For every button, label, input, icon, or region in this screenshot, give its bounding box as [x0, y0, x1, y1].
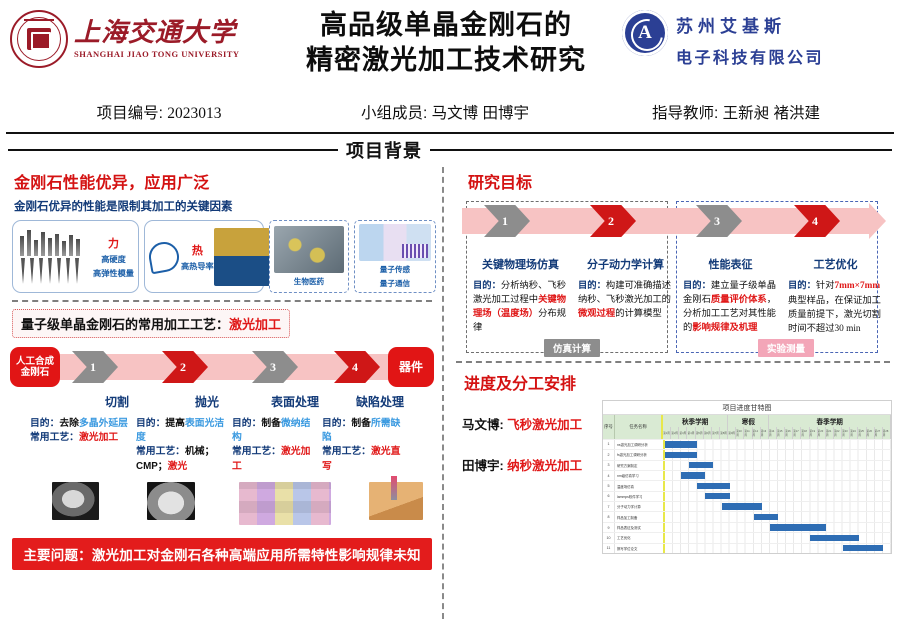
gantt-task-name: 样品加工制备	[615, 512, 665, 521]
step-detail-1: 目的：去除多晶外延层 常用工艺：激光加工	[30, 417, 136, 474]
gantt-task-name: 温度场仿真	[615, 481, 665, 490]
gantt-title: 项目进度甘特图	[603, 401, 891, 415]
application-card-thermal: 热 高热导率	[144, 220, 264, 293]
member-1-task: 飞秒激光加工	[507, 418, 582, 432]
gantt-task-id: 10	[603, 533, 615, 542]
property-key-thermal: 热	[192, 242, 203, 258]
flow-start-line-1: 人工合成	[16, 356, 54, 367]
photo-microstructure-array	[239, 482, 331, 525]
main-problem-label: 主要问题：	[23, 548, 92, 563]
step-3-process-label: 常用工艺：	[232, 446, 281, 457]
process-photo-strip	[10, 482, 434, 530]
gantt-task-row: 2fs激光加工调研分析	[603, 449, 891, 459]
caption-quantum-communication: 量子通信	[380, 278, 410, 289]
step-1-aim-object: 多晶外延层	[79, 418, 128, 429]
project-number: 项目编号: 2023013	[14, 101, 304, 123]
step-2-process: 常用工艺：机械；CMP；激光	[136, 445, 226, 473]
member-assignments: 马文博: 飞秒激光加工 田博宇: 纳秒激光加工	[454, 400, 602, 554]
step-2-aim: 目的：提高表面光洁度	[136, 417, 226, 445]
step-2-aim-verb: 提高	[165, 418, 185, 429]
company-name-line-1: 苏州艾基斯	[676, 12, 824, 37]
gantt-track	[665, 450, 891, 459]
application-card-biomedicine: 生物医药	[269, 220, 349, 293]
objective-3-highlight-2: 影响规律及机理	[692, 322, 757, 332]
step-label-4: 缺陷处理	[338, 393, 422, 410]
schedule-block: 马文博: 飞秒激光加工 田博宇: 纳秒激光加工 项目进度甘特图 序号 任务名称	[454, 400, 892, 554]
objective-2-part-b: 的计算模型	[615, 308, 662, 318]
advisors-value: 王新昶 褚洪建	[723, 105, 820, 122]
member-assignment-1: 马文博: 飞秒激光加工	[462, 414, 602, 433]
gantt-week-cell: 第4周	[687, 427, 695, 439]
gantt-task-name: ns激光加工调研分析	[615, 440, 665, 449]
objective-2-highlight: 微观过程	[578, 308, 615, 318]
biomedicine-image	[274, 226, 344, 273]
gantt-task-name: 撰写学位论文	[615, 544, 665, 553]
tag-simulation: 仿真计算	[544, 339, 600, 357]
gantt-bar	[722, 503, 762, 509]
objective-3-number: 3	[714, 214, 720, 229]
objective-column-1: 关键物理场仿真 目的：分析纳秒、飞秒激光加工过程中关键物理场（温度场）分布规律	[468, 251, 573, 337]
caption-quantum-sensing: 量子传感	[380, 264, 410, 275]
objectives-block: 1 2 3 4 关键物理场仿真 目	[454, 199, 892, 355]
gantt-week-cell: 第21周	[826, 427, 834, 439]
gantt-task-row: 11撰写学位论文	[603, 543, 891, 553]
gantt-week-cell: 第3周	[679, 427, 687, 439]
quantum-image	[359, 224, 431, 261]
step-4-aim: 目的：制备所需缺陷	[322, 417, 408, 445]
step-1-aim-label: 目的：	[30, 418, 59, 429]
objective-4-number: 4	[812, 214, 818, 229]
gantt-col-id-header: 序号	[603, 415, 615, 439]
process-step-details: 目的：去除多晶外延层 常用工艺：激光加工 目的：提高表面光洁度 常用工艺：机械；…	[10, 417, 434, 474]
gantt-task-name: lammps软件学习	[615, 492, 665, 501]
gantt-term: 春季学期	[769, 415, 891, 427]
gantt-track	[665, 471, 891, 480]
step-detail-2: 目的：提高表面光洁度 常用工艺：机械；CMP；激光	[136, 417, 232, 474]
step-3-aim: 目的：制备微纳结构	[232, 417, 316, 445]
project-number-value: 2023013	[167, 105, 221, 122]
banner-rule-right	[430, 149, 892, 151]
step-detail-4: 目的：制备所需缺陷 常用工艺：激光直写	[322, 417, 414, 474]
gantt-track	[665, 461, 891, 470]
gantt-track	[665, 544, 891, 553]
poster-meta-row: 项目编号: 2023013 小组成员: 马文博 田博宇 指导教师: 王新昶 褚洪…	[0, 92, 900, 132]
gantt-task-id: 9	[603, 523, 615, 532]
title-line-2: 精密激光加工技术研究	[270, 43, 622, 78]
step-3-process: 常用工艺：激光加工	[232, 445, 316, 473]
gantt-week-cell: 第17周	[793, 427, 801, 439]
gantt-task-row: 10工艺优化	[603, 532, 891, 542]
advisors-label: 指导教师:	[652, 105, 718, 122]
project-number-label: 项目编号:	[97, 105, 163, 122]
heat-icon	[147, 239, 182, 274]
objectives-heading: 研究目标	[468, 169, 892, 193]
objectives-columns: 关键物理场仿真 目的：分析纳秒、飞秒激光加工过程中关键物理场（温度场）分布规律 …	[458, 243, 888, 337]
gantt-week-cell: 第28周	[883, 427, 891, 439]
gantt-bar	[665, 452, 697, 458]
caption-biomedicine: 生物医药	[294, 276, 324, 287]
university-name-en: SHANGHAI JIAO TONG UNIVERSITY	[74, 50, 240, 59]
gantt-task-name: 分子动力学计算	[615, 502, 665, 511]
objective-1-label: 关键物理场仿真	[473, 256, 568, 272]
step-1-aim-verb: 去除	[59, 418, 79, 429]
process-title-highlight: 激光加工	[229, 317, 281, 332]
gantt-week-cell: 第24周	[850, 427, 858, 439]
tag-experiment: 实验测量	[758, 339, 814, 357]
process-flow: 人工合成 金刚石 1 2 3 4 器件	[10, 345, 434, 389]
gantt-week-cell: 第20周	[818, 427, 826, 439]
step-4-process-label: 常用工艺：	[322, 446, 371, 457]
gantt-task-name: 样品表征及测试	[615, 523, 665, 532]
objective-3-label: 性能表征	[683, 256, 778, 272]
gantt-week-cell: 第1周	[663, 427, 671, 439]
step-label-3: 表面处理	[252, 393, 338, 410]
gantt-week-cell: 第15周	[777, 427, 785, 439]
objective-3-text: 目的：建立量子级单晶金刚石质量评价体系，分析加工工艺对其性能的影响规律及机理	[683, 279, 778, 335]
step-label-2: 抛光	[162, 393, 252, 410]
poster-header: 上海交通大学 SHANGHAI JIAO TONG UNIVERSITY 高品级…	[0, 0, 900, 92]
objective-3-highlight-1: 质量评价体系	[711, 294, 767, 304]
gantt-bar	[843, 545, 883, 551]
objective-group-tags: 仿真计算 实验测量	[458, 339, 888, 355]
gantt-task-row: 6lammps软件学习	[603, 491, 891, 501]
gantt-week-cell: 第23周	[842, 427, 850, 439]
university-name-cn: 上海交通大学	[74, 20, 240, 46]
gantt-week-cell: 第18周	[801, 427, 809, 439]
gantt-week-cell: 第22周	[834, 427, 842, 439]
team-members-label: 小组成员:	[361, 105, 427, 122]
gantt-task-name: fs激光加工调研分析	[615, 450, 665, 459]
gantt-task-row: 8样品加工制备	[603, 511, 891, 521]
step-4-aim-verb: 制备	[351, 418, 371, 429]
step-1-process: 常用工艺：激光加工	[30, 431, 130, 445]
member-2-task: 纳秒激光加工	[507, 459, 582, 473]
photo-polished-sample	[147, 482, 195, 520]
property-sub-hardness: 高硬度	[101, 253, 126, 265]
gantt-bar	[770, 524, 827, 530]
objective-2-label: 分子动力学计算	[578, 256, 673, 272]
gantt-week-cell: 第8周	[720, 427, 728, 439]
gantt-week-cell: 第5周	[696, 427, 704, 439]
step-1-aim: 目的：去除多晶外延层	[30, 417, 130, 431]
step-2-aim-label: 目的：	[136, 418, 165, 429]
gantt-week-cell: 第11周	[744, 427, 752, 439]
objective-column-3: 性能表征 目的：建立量子级单晶金刚石质量评价体系，分析加工工艺对其性能的影响规律…	[678, 251, 783, 337]
gantt-task-id: 6	[603, 492, 615, 501]
thermal-props-text: 热 高热导率	[181, 242, 214, 272]
gantt-term-row: 秋季学期寒假春季学期	[663, 415, 891, 427]
flow-end-cap: 器件	[388, 347, 434, 387]
process-title-chip: 量子级单晶金刚石的常用加工工艺：激光加工	[12, 309, 290, 338]
gantt-bar	[810, 535, 858, 541]
step-2-process-value: 激光	[168, 461, 188, 472]
gantt-task-row: 3研究方案制定	[603, 460, 891, 470]
team-members-value: 马文博 田博宇	[432, 105, 529, 122]
gantt-task-id: 3	[603, 461, 615, 470]
process-step-labels: 切割 抛光 表面处理 缺陷处理	[10, 393, 434, 410]
gantt-track	[665, 481, 891, 490]
gantt-track	[665, 523, 891, 532]
gantt-chart: 项目进度甘特图 序号 任务名称 秋季学期寒假春季学期 第1周第2周第3周第4周第…	[602, 400, 892, 554]
objective-4-time-limit: 30 min	[835, 324, 861, 334]
gantt-task-row: 4nm级仿真学习	[603, 470, 891, 480]
property-key-mechanical: 力	[108, 235, 119, 251]
gantt-task-id: 4	[603, 471, 615, 480]
gantt-task-id: 7	[603, 502, 615, 511]
team-members: 小组成员: 马文博 田博宇	[304, 101, 586, 123]
poster-body: 金刚石性能优异，应用广泛 金刚石优异的性能是限制其加工的关键因素	[0, 163, 900, 619]
schedule-heading: 进度及分工安排	[464, 370, 892, 394]
member-1-name: 马文博:	[462, 418, 504, 432]
step-2-process-label: 常用工艺：	[136, 446, 185, 457]
gantt-col-name-header: 任务名称	[615, 415, 663, 439]
flow-step-4-number: 4	[352, 360, 358, 375]
step-3-aim-verb: 制备	[261, 418, 281, 429]
objective-1-aim-label: 目的：	[473, 280, 501, 290]
gantt-task-row: 7分子动力学计算	[603, 501, 891, 511]
process-title-prefix: 量子级单晶金刚石的常用加工工艺：	[21, 317, 229, 332]
left-divider-1	[12, 300, 432, 302]
objective-column-2: 分子动力学计算 目的：构建可准确描述纳秒、飞秒激光加工的微观过程的计算模型	[573, 251, 678, 337]
gantt-week-cell: 第9周	[728, 427, 736, 439]
gantt-bar	[705, 493, 729, 499]
gantt-task-row: 9样品表征及测试	[603, 522, 891, 532]
gantt-week-cell: 第7周	[712, 427, 720, 439]
university-branding: 上海交通大学 SHANGHAI JIAO TONG UNIVERSITY	[10, 6, 270, 68]
gantt-bar	[665, 441, 697, 447]
gantt-timeline-header: 秋季学期寒假春季学期 第1周第2周第3周第4周第5周第6周第7周第8周第9周第1…	[663, 415, 891, 439]
gantt-week-row: 第1周第2周第3周第4周第5周第6周第7周第8周第9周第10周第11周第12周第…	[663, 427, 891, 439]
background-column: 金刚石性能优异，应用广泛 金刚石优异的性能是限制其加工的关键因素	[6, 165, 438, 619]
right-divider-1	[456, 361, 890, 363]
objective-column-4: 工艺优化 目的：针对7mm×7mm典型样品，在保证加工质量前提下，激光切割时间不…	[783, 251, 888, 337]
university-wordmark: 上海交通大学 SHANGHAI JIAO TONG UNIVERSITY	[74, 20, 240, 59]
gantt-term: 寒假	[728, 415, 769, 427]
member-2-name: 田博宇:	[462, 459, 504, 473]
gantt-bar	[754, 514, 778, 520]
company-name-line-2: 电子科技有限公司	[676, 44, 824, 68]
gantt-task-name: 研究方案制定	[615, 461, 665, 470]
objective-1-text: 目的：分析纳秒、飞秒激光加工过程中关键物理场（温度场）分布规律	[473, 279, 568, 335]
gantt-task-name: 工艺优化	[615, 533, 665, 542]
photo-laser-writing	[369, 482, 423, 520]
advisors: 指导教师: 王新昶 褚洪建	[586, 101, 886, 123]
section-banner-title: 项目背景	[346, 137, 422, 163]
company-logo-icon: A	[622, 10, 668, 56]
step-4-process: 常用工艺：激光直写	[322, 445, 408, 473]
application-cards: 力 高硬度 高弹性模量 热 高热导率 生物医药	[12, 220, 432, 293]
gantt-track	[665, 502, 891, 511]
step-3-aim-label: 目的：	[232, 418, 261, 429]
gantt-task-row: 1ns激光加工调研分析	[603, 439, 891, 449]
gantt-bar	[697, 483, 729, 489]
objective-2-aim-label: 目的：	[578, 280, 606, 290]
member-assignment-2: 田博宇: 纳秒激光加工	[462, 455, 602, 474]
gantt-track	[665, 533, 891, 542]
gantt-week-cell: 第19周	[810, 427, 818, 439]
chip-substrate-image	[214, 228, 270, 286]
left-subheading: 金刚石优异的性能是限制其加工的关键因素	[14, 198, 434, 214]
step-detail-3: 目的：制备微纳结构 常用工艺：激光加工	[232, 417, 322, 474]
objective-4-label: 工艺优化	[788, 256, 883, 272]
gantt-task-id: 8	[603, 512, 615, 521]
gantt-task-rows: 1ns激光加工调研分析2fs激光加工调研分析3研究方案制定4nm级仿真学习5温度…	[603, 439, 891, 553]
main-problem-text: 激光加工对金刚石各种高端应用所需特性影响规律未知	[92, 548, 421, 563]
objective-4-part-a: 针对	[816, 280, 835, 290]
gantt-week-cell: 第14周	[769, 427, 777, 439]
gantt-bar	[689, 462, 713, 468]
gantt-track	[665, 492, 891, 501]
gantt-week-cell: 第25周	[858, 427, 866, 439]
gantt-task-id: 1	[603, 440, 615, 449]
diamond-tools-image	[17, 228, 93, 286]
gantt-week-cell: 第12周	[753, 427, 761, 439]
gantt-task-name: nm级仿真学习	[615, 471, 665, 480]
company-branding: A 苏州艾基斯 电子科技有限公司	[622, 6, 890, 68]
objective-4-sample-size: 7mm×7mm	[835, 281, 881, 291]
step-1-process-value: 激光加工	[79, 432, 118, 443]
objective-1-number: 1	[502, 214, 508, 229]
objective-2-text: 目的：构建可准确描述纳秒、飞秒激光加工的微观过程的计算模型	[578, 279, 673, 321]
company-wordmark: 苏州艾基斯 电子科技有限公司	[676, 10, 824, 68]
gantt-week-cell: 第16周	[785, 427, 793, 439]
gantt-task-id: 5	[603, 481, 615, 490]
step-4-aim-label: 目的：	[322, 418, 351, 429]
step-label-1: 切割	[72, 393, 162, 410]
objective-2-number: 2	[608, 214, 614, 229]
gantt-week-cell: 第13周	[761, 427, 769, 439]
gantt-task-id: 2	[603, 450, 615, 459]
property-sub-modulus: 高弹性模量	[93, 267, 134, 279]
gantt-week-cell: 第2周	[671, 427, 679, 439]
company-logo-letter: A	[638, 22, 652, 44]
poster-title: 高品级单晶金刚石的 精密激光加工技术研究	[270, 6, 622, 77]
flow-step-2-number: 2	[180, 360, 186, 375]
objective-4-aim-label: 目的：	[788, 280, 816, 290]
sjtu-seal-icon	[10, 10, 68, 68]
main-problem-bar: 主要问题：激光加工对金刚石各种高端应用所需特性影响规律未知	[12, 538, 432, 570]
property-sub-conductivity: 高热导率	[181, 260, 214, 272]
objective-3-aim-label: 目的：	[683, 280, 711, 290]
section-banner: 项目背景	[8, 137, 892, 163]
gantt-term: 秋季学期	[663, 415, 728, 427]
column-divider	[442, 167, 444, 619]
gantt-header: 序号 任务名称 秋季学期寒假春季学期 第1周第2周第3周第4周第5周第6周第7周…	[603, 415, 891, 439]
objectives-column: 研究目标 1 2 3 4	[448, 165, 894, 619]
poster-root: 上海交通大学 SHANGHAI JIAO TONG UNIVERSITY 高品级…	[0, 0, 900, 600]
step-1-process-label: 常用工艺：	[30, 432, 79, 443]
gantt-track	[665, 440, 891, 449]
header-divider	[6, 132, 894, 134]
gantt-task-id: 11	[603, 544, 615, 553]
photo-cut-sample	[52, 482, 99, 520]
mechanical-props-text: 力 高硬度 高弹性模量	[93, 235, 134, 279]
gantt-week-cell: 第10周	[736, 427, 744, 439]
banner-rule-left	[8, 149, 338, 151]
flow-step-3-number: 3	[270, 360, 276, 375]
application-card-mechanical: 力 高硬度 高弹性模量	[12, 220, 139, 293]
left-heading: 金刚石性能优异，应用广泛	[14, 169, 434, 193]
application-card-quantum: 量子传感 量子通信	[354, 220, 436, 293]
gantt-track	[665, 512, 891, 521]
gantt-bar	[681, 472, 705, 478]
gantt-week-cell: 第26周	[867, 427, 875, 439]
gantt-week-cell: 第6周	[704, 427, 712, 439]
flow-start-cap: 人工合成 金刚石	[10, 347, 60, 387]
gantt-week-cell: 第27周	[875, 427, 883, 439]
flow-start-line-2: 金刚石	[21, 367, 50, 378]
title-line-1: 高品级单晶金刚石的	[270, 8, 622, 43]
gantt-task-row: 5温度场仿真	[603, 480, 891, 490]
objective-4-text: 目的：针对7mm×7mm典型样品，在保证加工质量前提下，激光切割时间不超过30 …	[788, 279, 883, 337]
flow-step-1-number: 1	[90, 360, 96, 375]
objectives-flow: 1 2 3 4	[458, 199, 888, 243]
